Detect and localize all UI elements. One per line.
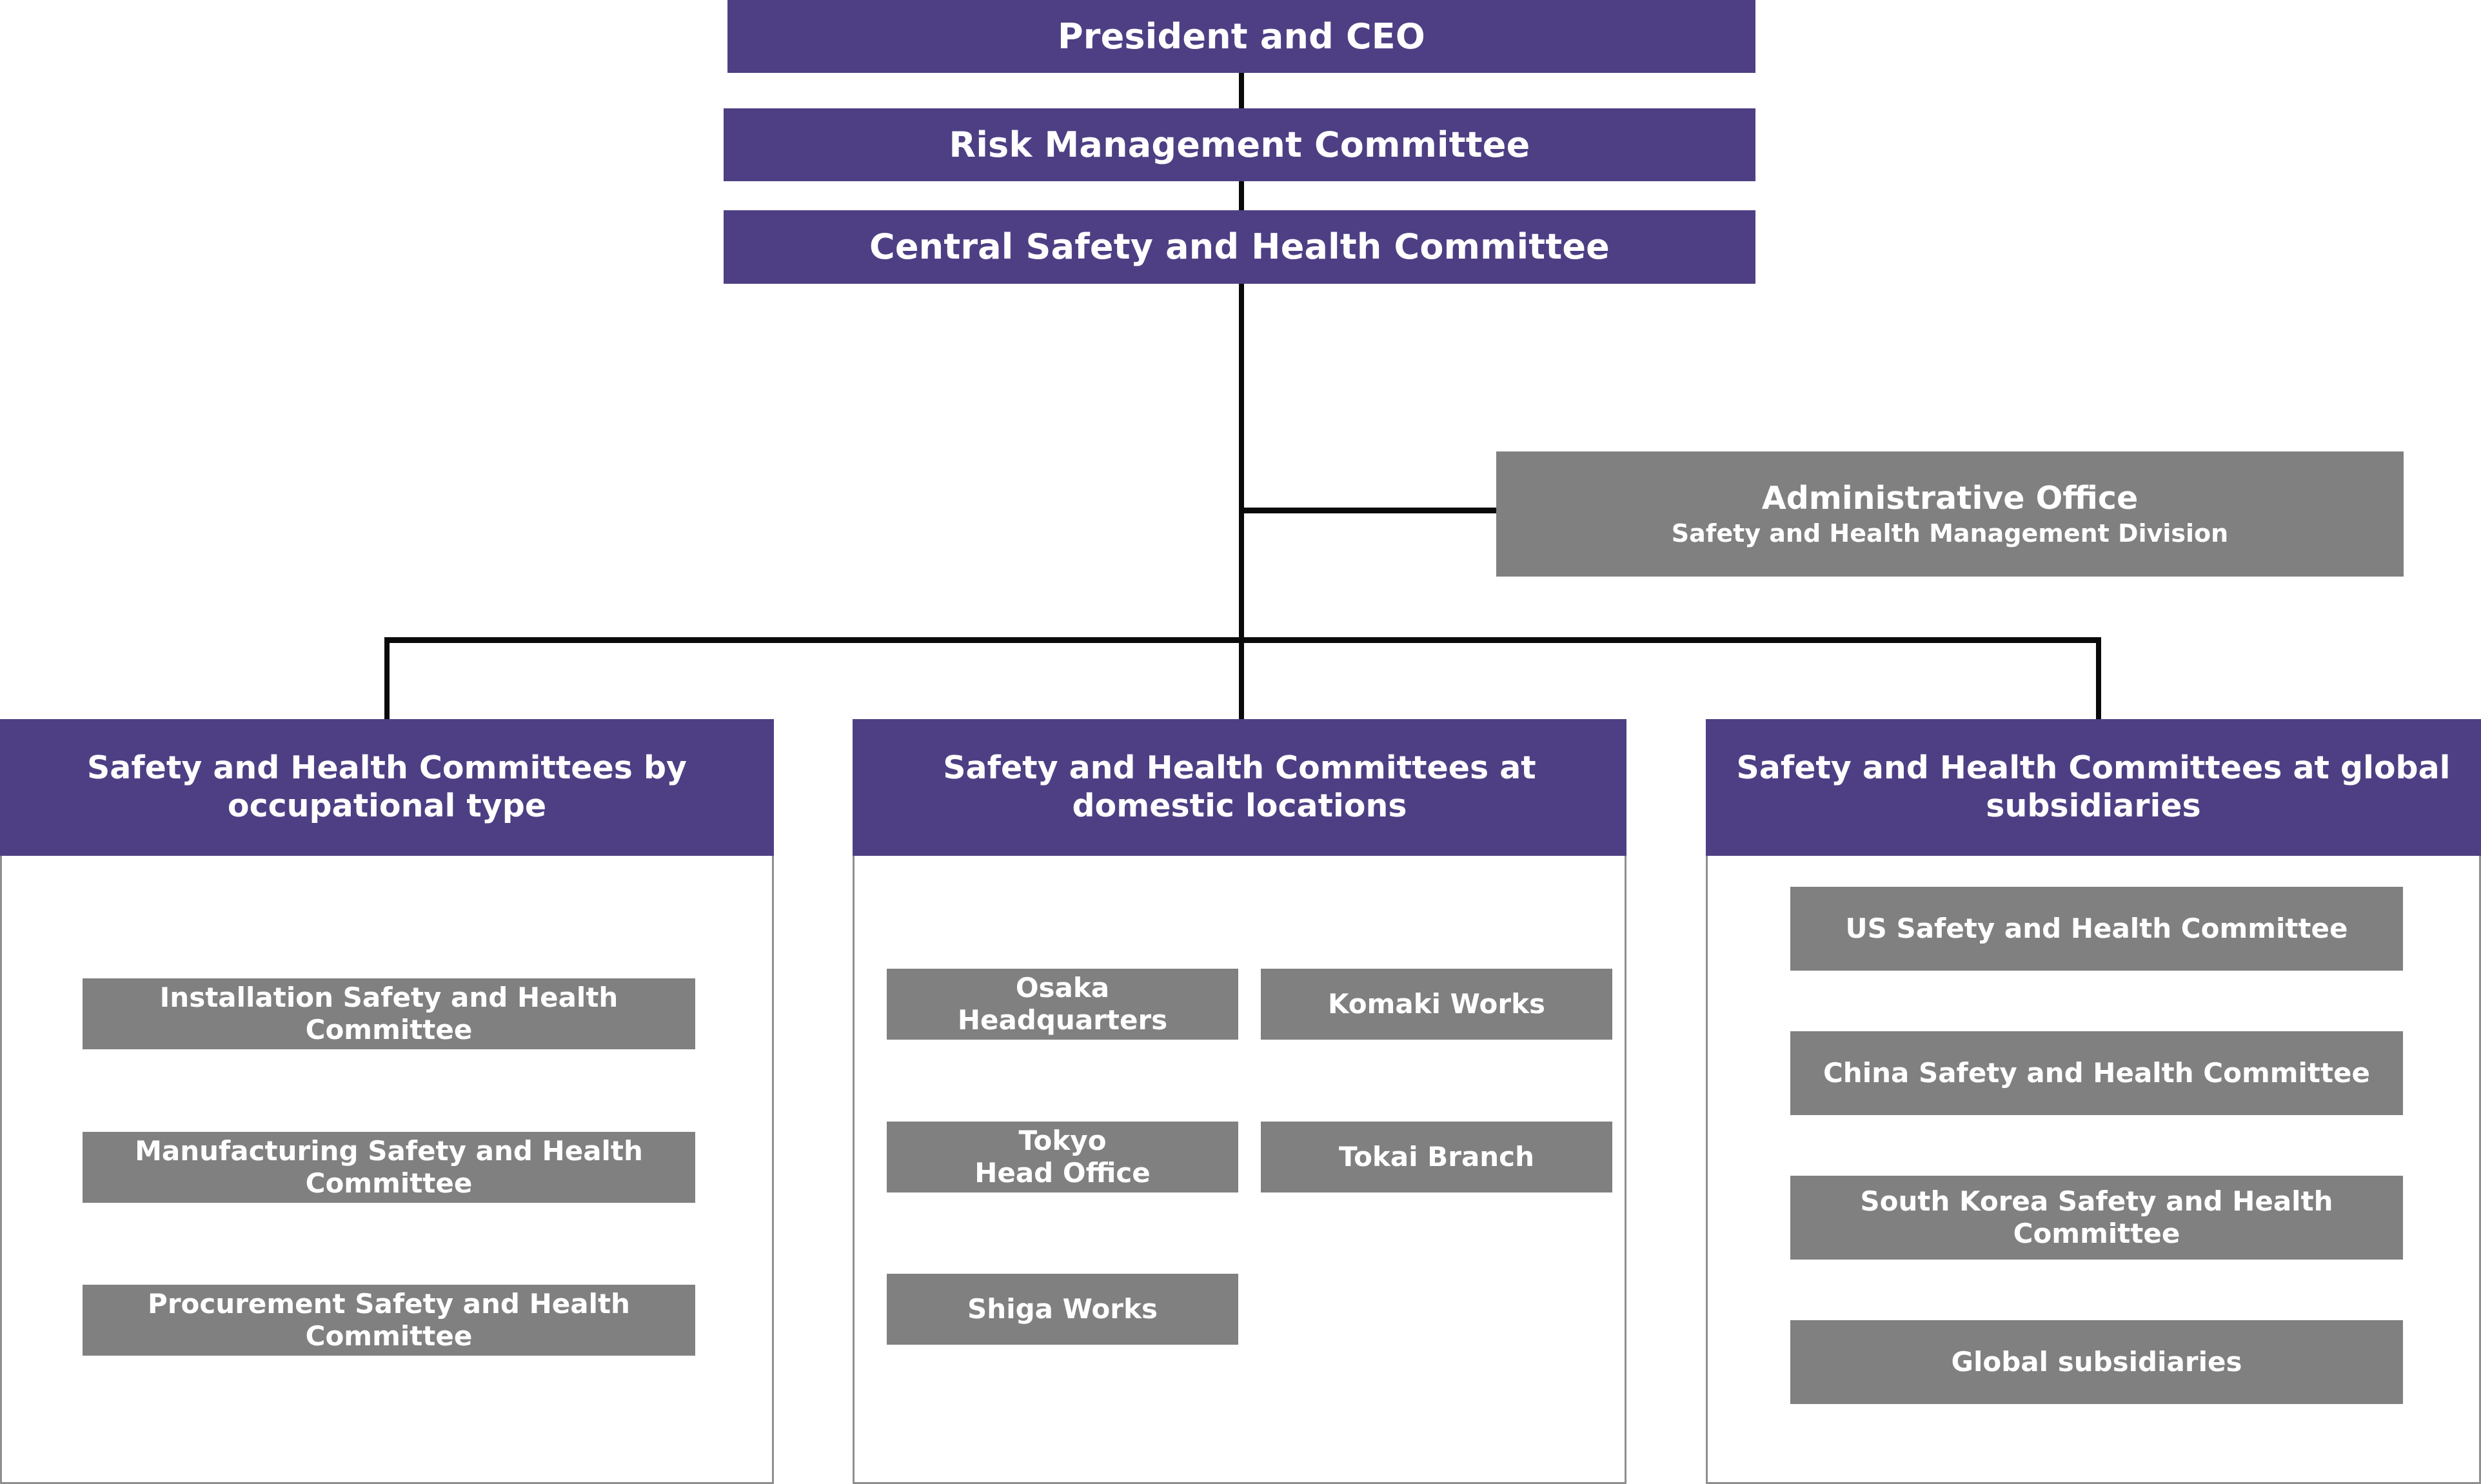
connector-to-administrative-office — [1244, 508, 1497, 513]
leaf-china-safety-and-health-committee[interactable]: China Safety and Health Committee — [1790, 1031, 2403, 1115]
panel-header-label: Safety and Health Committees at global s… — [1715, 749, 2472, 826]
connector-risk-to-central — [1239, 181, 1244, 210]
node-administrative-office[interactable]: Administrative Office Safety and Health … — [1496, 451, 2404, 577]
panel-body-domestic-locations: Osaka Headquarters Komaki Works Tokyo He… — [853, 856, 1626, 1484]
connector-central-trunk — [1239, 284, 1244, 642]
leaf-komaki-works[interactable]: Komaki Works — [1261, 969, 1612, 1040]
leaf-shiga-works[interactable]: Shiga Works — [887, 1274, 1238, 1345]
connector-drop-right — [2096, 637, 2101, 719]
node-risk-management-committee[interactable]: Risk Management Committee — [724, 108, 1755, 181]
leaf-installation-safety-and-health-committee[interactable]: Installation Safety and Health Committee — [83, 978, 695, 1049]
leaf-label: US Safety and Health Committee — [1845, 913, 2348, 945]
leaf-manufacturing-safety-and-health-committee[interactable]: Manufacturing Safety and Health Committe… — [83, 1132, 695, 1203]
leaf-label: Procurement Safety and Health Committee — [90, 1288, 687, 1353]
panel-header-label: Safety and Health Committees by occupati… — [9, 749, 765, 826]
node-president-and-ceo[interactable]: President and CEO — [727, 0, 1755, 73]
panel-header-occupational-type[interactable]: Safety and Health Committees by occupati… — [0, 719, 774, 856]
panel-domestic-locations: Safety and Health Committees at domestic… — [853, 719, 1626, 1484]
leaf-tokyo-head-office[interactable]: Tokyo Head Office — [887, 1122, 1238, 1192]
panel-body-occupational-type: Installation Safety and Health Committee… — [0, 856, 774, 1484]
leaf-procurement-safety-and-health-committee[interactable]: Procurement Safety and Health Committee — [83, 1285, 695, 1356]
panel-occupational-type: Safety and Health Committees by occupati… — [0, 719, 774, 1484]
leaf-label: Osaka Headquarters — [958, 972, 1167, 1037]
leaf-label: Tokai Branch — [1339, 1141, 1534, 1173]
panel-header-domestic-locations[interactable]: Safety and Health Committees at domestic… — [853, 719, 1626, 856]
node-label: President and CEO — [1058, 16, 1425, 57]
leaf-label: China Safety and Health Committee — [1823, 1057, 2370, 1089]
administrative-office-subtitle: Safety and Health Management Division — [1672, 519, 2228, 548]
panel-body-global-subsidiaries: US Safety and Health Committee China Saf… — [1706, 856, 2481, 1484]
connector-drop-middle — [1239, 637, 1244, 719]
leaf-label: Global subsidiaries — [1952, 1346, 2242, 1378]
org-chart-canvas: President and CEO Risk Management Commit… — [0, 0, 2481, 1484]
leaf-south-korea-safety-and-health-committee[interactable]: South Korea Safety and Health Committee — [1790, 1176, 2403, 1260]
node-central-safety-and-health-committee[interactable]: Central Safety and Health Committee — [724, 210, 1755, 284]
leaf-label: Shiga Works — [967, 1293, 1158, 1325]
leaf-osaka-headquarters[interactable]: Osaka Headquarters — [887, 969, 1238, 1040]
node-label: Risk Management Committee — [949, 124, 1530, 166]
leaf-us-safety-and-health-committee[interactable]: US Safety and Health Committee — [1790, 887, 2403, 971]
connector-ceo-to-risk — [1239, 73, 1244, 109]
panel-global-subsidiaries: Safety and Health Committees at global s… — [1706, 719, 2481, 1484]
leaf-tokai-branch[interactable]: Tokai Branch — [1261, 1122, 1612, 1192]
leaf-label: South Korea Safety and Health Committee — [1798, 1185, 2395, 1251]
leaf-label: Installation Safety and Health Committee — [90, 982, 687, 1047]
leaf-label: Komaki Works — [1328, 988, 1545, 1020]
leaf-label: Manufacturing Safety and Health Committe… — [90, 1135, 687, 1200]
node-label: Central Safety and Health Committee — [869, 226, 1610, 268]
panel-header-global-subsidiaries[interactable]: Safety and Health Committees at global s… — [1706, 719, 2481, 856]
administrative-office-title: Administrative Office — [1762, 480, 2138, 517]
leaf-global-subsidiaries[interactable]: Global subsidiaries — [1790, 1320, 2403, 1404]
connector-drop-left — [384, 637, 390, 719]
leaf-label: Tokyo Head Office — [974, 1125, 1151, 1190]
panel-header-label: Safety and Health Committees at domestic… — [862, 749, 1617, 826]
